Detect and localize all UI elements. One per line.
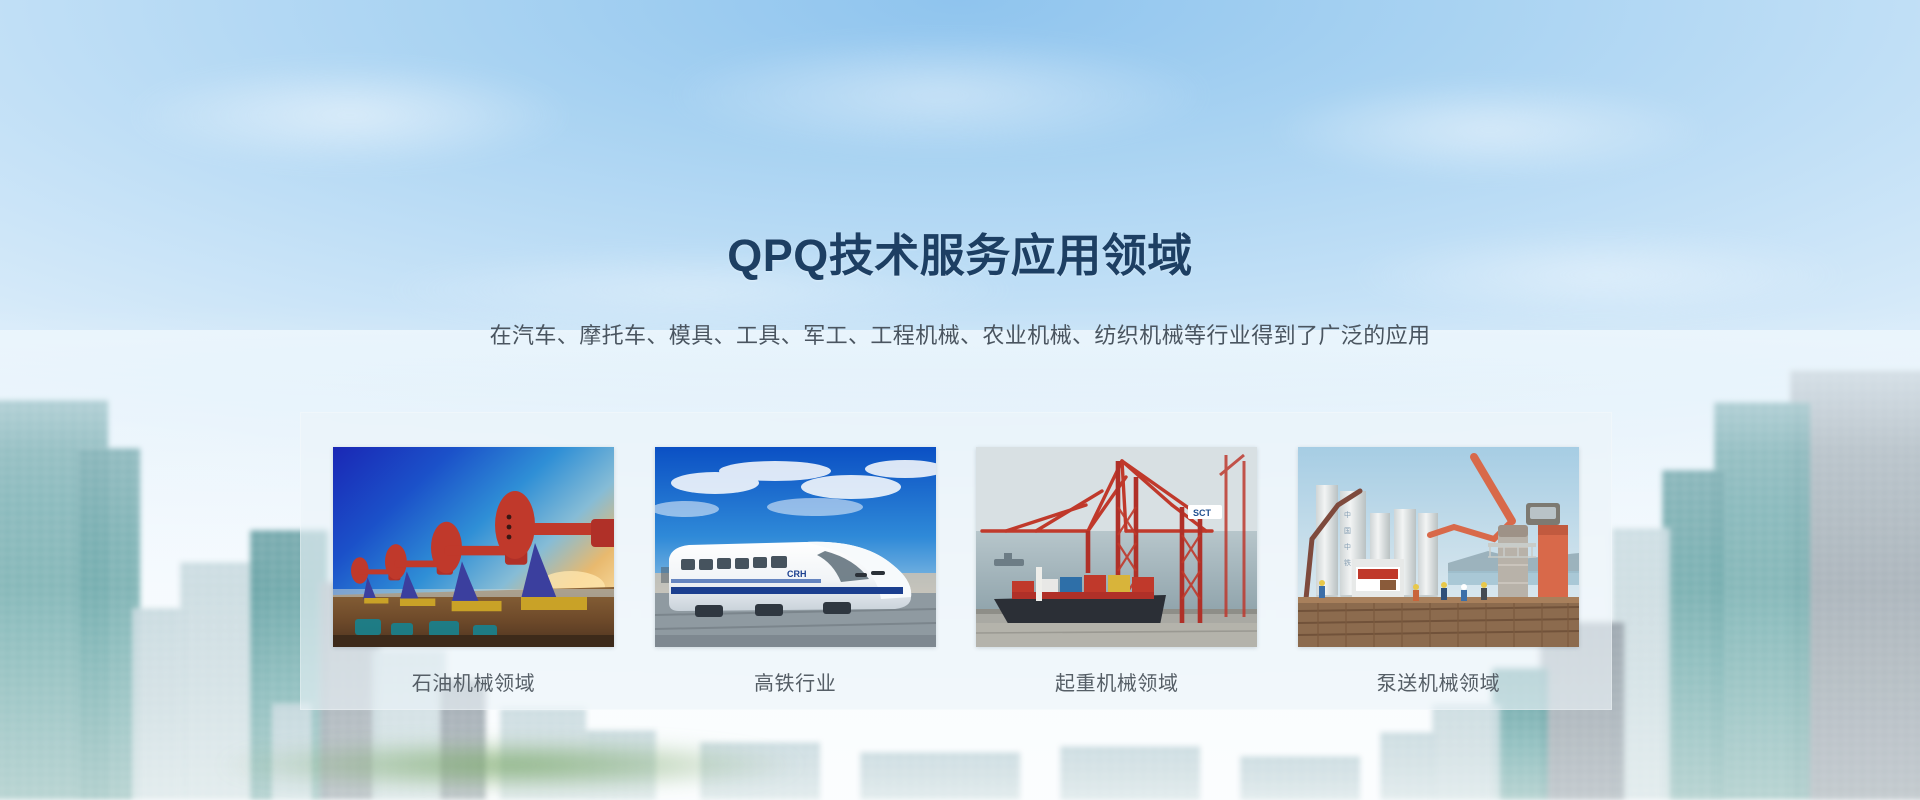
- svg-text:铁: 铁: [1344, 558, 1351, 567]
- application-card[interactable]: 石油机械领域: [333, 447, 614, 696]
- application-cards-panel: 石油机械领域: [300, 412, 1612, 710]
- svg-text:CRH: CRH: [787, 569, 807, 579]
- application-card[interactable]: 中国中铁: [1298, 447, 1579, 696]
- application-card[interactable]: SCT 起重机械领域: [976, 447, 1257, 696]
- hero-section: QPQ技术服务应用领域 在汽车、摩托车、模具、工具、军工、工程机械、农业机械、纺…: [0, 0, 1920, 800]
- card-label: 泵送机械领域: [1377, 667, 1501, 696]
- concrete-pump-machinery-photo[interactable]: 中国中铁: [1298, 447, 1579, 647]
- page-title: QPQ技术服务应用领域: [0, 232, 1920, 279]
- card-label: 高铁行业: [754, 667, 836, 696]
- svg-text:中: 中: [1344, 510, 1351, 519]
- high-speed-train-photo[interactable]: CRH: [655, 447, 936, 647]
- port-gantry-cranes-photo[interactable]: SCT: [976, 447, 1257, 647]
- svg-text:国: 国: [1344, 527, 1351, 535]
- card-label: 石油机械领域: [412, 667, 536, 696]
- oil-pumpjacks-sunset-photo[interactable]: [333, 447, 614, 647]
- svg-text:SCT: SCT: [1193, 508, 1212, 518]
- card-label: 起重机械领域: [1055, 667, 1179, 696]
- application-card[interactable]: CRH 高铁行业: [655, 447, 936, 696]
- svg-text:中: 中: [1344, 542, 1351, 551]
- page-subtitle: 在汽车、摩托车、模具、工具、军工、工程机械、农业机械、纺织机械等行业得到了广泛的…: [0, 318, 1920, 350]
